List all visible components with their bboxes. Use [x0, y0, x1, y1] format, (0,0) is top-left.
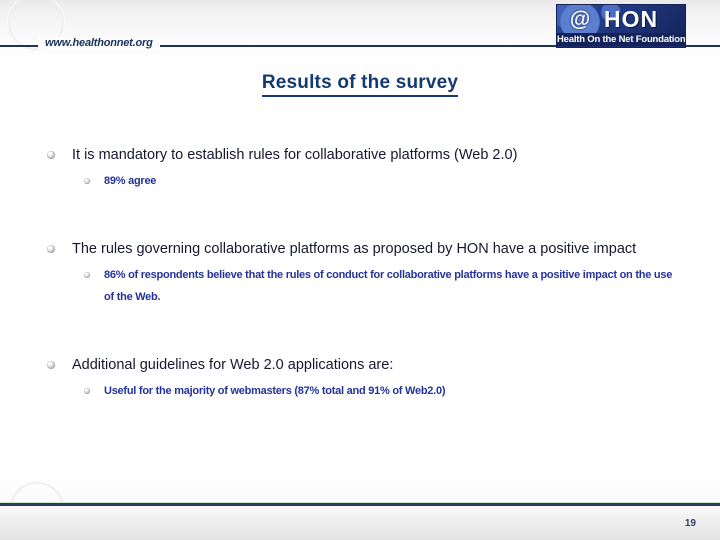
slide-title: Results of the survey [0, 72, 720, 94]
bullet-marker-icon [47, 151, 55, 159]
spacer-1 [0, 192, 720, 234]
sub-bullet-item-2-text: 86% of respondents believe that the rule… [104, 269, 672, 303]
hon-logo: @ HON Health On the Net Foundation [556, 4, 686, 48]
hon-logo-top: @ HON [557, 5, 685, 33]
hon-logo-tagline: Health On the Net Foundation [557, 33, 685, 46]
bullet-item-2-text: The rules governing collaborative platfo… [72, 241, 636, 257]
at-symbol-icon: @ [557, 9, 603, 30]
bullet-marker-icon [47, 245, 55, 253]
bullet-item-1-text: It is mandatory to establish rules for c… [72, 147, 517, 163]
sub-bullet-item-3: Useful for the majority of webmasters (8… [0, 380, 720, 402]
slide-title-text: Results of the survey [262, 72, 458, 97]
hon-logo-wordmark: HON [603, 8, 685, 31]
sub-bullet-marker-icon [84, 272, 90, 278]
sub-bullet-item-1: 89% agree [0, 170, 720, 192]
slide-body: It is mandatory to establish rules for c… [0, 140, 720, 402]
page-number: 19 [685, 518, 696, 529]
presentation-slide: www.healthonnet.org @ HON Health On the … [0, 0, 720, 540]
sub-bullet-item-2: 86% of respondents believe that the rule… [0, 264, 720, 308]
spacer-2 [0, 308, 720, 350]
bullet-item-3: Additional guidelines for Web 2.0 applic… [0, 350, 720, 380]
sub-bullet-item-1-text: 89% agree [104, 175, 156, 187]
bullet-item-1: It is mandatory to establish rules for c… [0, 140, 720, 170]
site-url-label: www.healthonnet.org [38, 37, 160, 49]
sub-bullet-item-3-text: Useful for the majority of webmasters (8… [104, 385, 445, 397]
bullet-item-2: The rules governing collaborative platfo… [0, 234, 720, 264]
bullet-marker-icon [47, 361, 55, 369]
sub-bullet-marker-icon [84, 178, 90, 184]
footer-bar [0, 506, 720, 540]
sub-bullet-marker-icon [84, 388, 90, 394]
bullet-item-3-text: Additional guidelines for Web 2.0 applic… [72, 357, 393, 373]
